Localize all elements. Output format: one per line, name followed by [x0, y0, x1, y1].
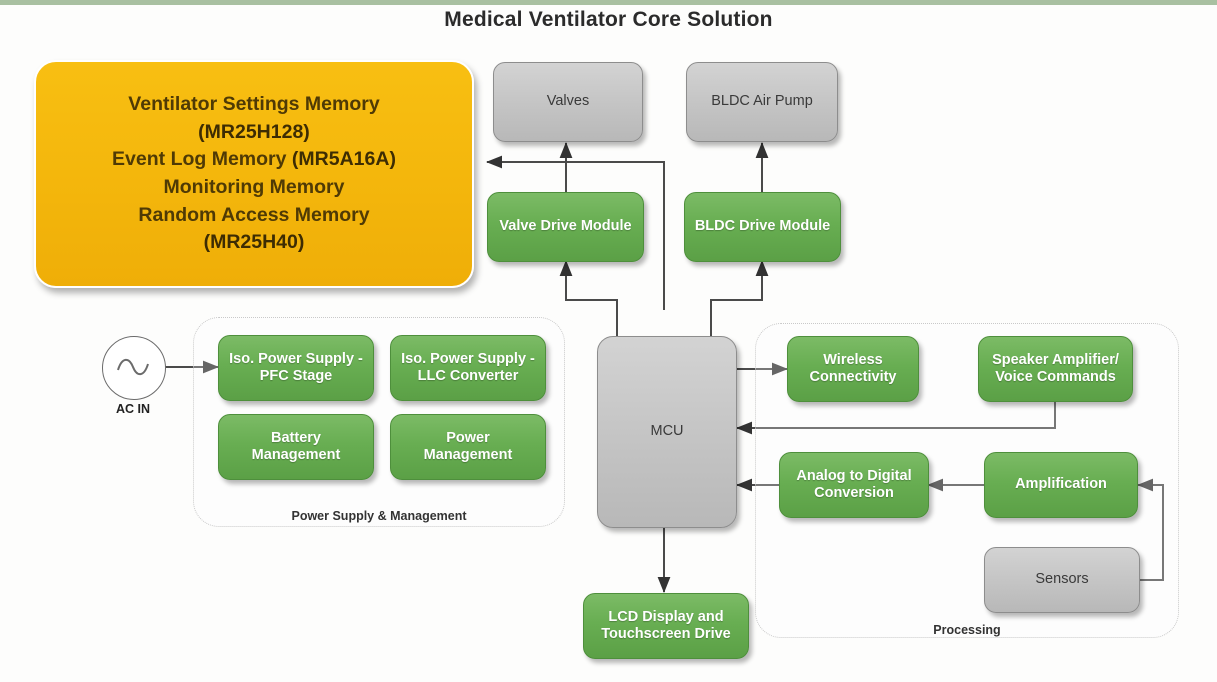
adc-line-2: Conversion	[814, 485, 894, 501]
block-battery-management[interactable]: Battery Management	[218, 414, 374, 480]
block-valve-drive-module[interactable]: Valve Drive Module	[487, 192, 644, 262]
sine-wave-icon	[103, 337, 163, 397]
block-valve-drive-module-label: Valve Drive Module	[499, 218, 631, 235]
battery-line-1: Battery	[271, 430, 321, 446]
memory-line-2: (MR25H128)	[112, 119, 396, 147]
top-accent-band	[0, 0, 1217, 5]
speaker-line-2: Voice Commands	[995, 369, 1116, 385]
block-analog-to-digital-conversion[interactable]: Analog to Digital Conversion	[779, 452, 929, 518]
ac-source-symbol	[102, 336, 166, 400]
wireless-line-2: Connectivity	[809, 369, 896, 385]
memory-part-mr25h40: (MR25H40)	[204, 231, 305, 253]
block-mcu[interactable]: MCU	[597, 336, 737, 528]
iso-pfc-line-1: Iso. Power Supply -	[229, 351, 363, 367]
block-power-management[interactable]: Power Management	[390, 414, 546, 480]
block-valves-label: Valves	[547, 93, 589, 110]
iso-pfc-line-2: PFC Stage	[260, 368, 333, 384]
block-bldc-air-pump-label: BLDC Air Pump	[711, 93, 813, 110]
wire-mcu-to-valvedrive	[566, 261, 617, 336]
memory-part-mr25h128: (MR25H128)	[198, 121, 310, 143]
block-mcu-label: MCU	[650, 423, 683, 440]
lcd-line-2: Touchscreen Drive	[601, 626, 730, 642]
memory-line-3: Event Log Memory (MR5A16A)	[112, 146, 396, 174]
block-amplification-label: Amplification	[1015, 476, 1107, 493]
battery-line-2: Management	[252, 447, 341, 463]
block-lcd-display[interactable]: LCD Display and Touchscreen Drive	[583, 593, 749, 659]
memory-line-6: (MR25H40)	[112, 229, 396, 257]
block-speaker-amplifier[interactable]: Speaker Amplifier/ Voice Commands	[978, 336, 1133, 402]
block-iso-power-supply-llc[interactable]: Iso. Power Supply - LLC Converter	[390, 335, 546, 401]
block-sensors-label: Sensors	[1035, 571, 1088, 588]
block-lcd-display-label: LCD Display and Touchscreen Drive	[601, 609, 730, 643]
power-mgmt-line-1: Power	[446, 430, 490, 446]
block-iso-power-supply-pfc[interactable]: Iso. Power Supply - PFC Stage	[218, 335, 374, 401]
group-power-supply-label: Power Supply & Management	[193, 509, 565, 523]
power-mgmt-line-2: Management	[424, 447, 513, 463]
memory-part-mr5a16a: (MR5A16A)	[292, 148, 396, 170]
memory-block[interactable]: Ventilator Settings Memory (MR25H128) Ev…	[34, 60, 474, 288]
group-processing-label: Processing	[755, 623, 1179, 637]
wire-mcu-to-bldcdrive	[711, 261, 762, 336]
iso-llc-line-1: Iso. Power Supply -	[401, 351, 535, 367]
page-title: Medical Ventilator Core Solution	[0, 8, 1217, 32]
block-bldc-drive-module[interactable]: BLDC Drive Module	[684, 192, 841, 262]
memory-line-5: Random Access Memory	[112, 202, 396, 230]
adc-line-1: Analog to Digital	[796, 468, 911, 484]
block-wireless-connectivity[interactable]: Wireless Connectivity	[787, 336, 919, 402]
block-bldc-air-pump[interactable]: BLDC Air Pump	[686, 62, 838, 142]
lcd-line-1: LCD Display and	[608, 609, 723, 625]
memory-line-1: Ventilator Settings Memory	[112, 91, 396, 119]
memory-line-4: Monitoring Memory	[112, 174, 396, 202]
ac-in-label: AC IN	[94, 402, 172, 416]
speaker-line-1: Speaker Amplifier/	[992, 352, 1119, 368]
block-sensors[interactable]: Sensors	[984, 547, 1140, 613]
block-valves[interactable]: Valves	[493, 62, 643, 142]
diagram-canvas: Medical Ventilator Core Solution	[0, 0, 1217, 682]
wireless-line-1: Wireless	[823, 352, 883, 368]
iso-llc-line-2: LLC Converter	[418, 368, 519, 384]
block-amplification[interactable]: Amplification	[984, 452, 1138, 518]
block-bldc-drive-module-label: BLDC Drive Module	[695, 218, 830, 235]
memory-block-text: Ventilator Settings Memory (MR25H128) Ev…	[112, 91, 396, 257]
